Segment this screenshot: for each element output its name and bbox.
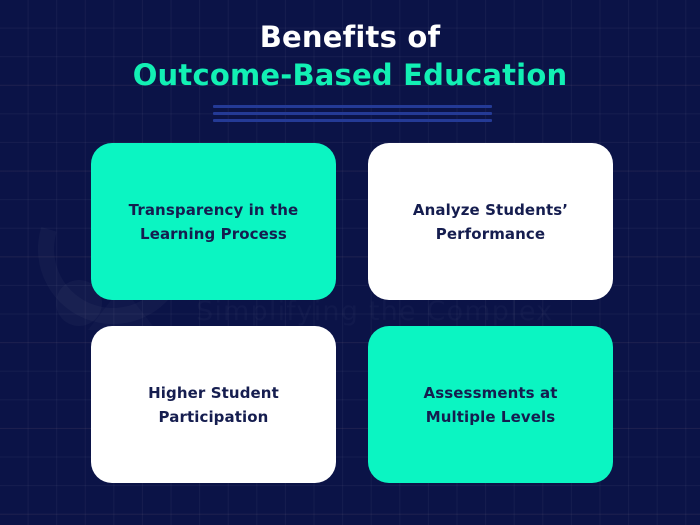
page-title-line-1: Benefits of xyxy=(0,18,700,56)
infographic-slide: izz Simplifying the Complex Benefits of … xyxy=(0,0,700,525)
benefit-card-label: Assessments at Multiple Levels xyxy=(424,381,558,429)
divider-rule-2 xyxy=(213,112,492,115)
benefit-card-transparency[interactable]: Transparency in the Learning Process xyxy=(91,143,336,300)
benefit-card-analyze-performance[interactable]: Analyze Students’ Performance xyxy=(368,143,613,300)
benefit-card-higher-participation[interactable]: Higher Student Participation xyxy=(91,326,336,483)
page-title-line-2: Outcome-Based Education xyxy=(0,56,700,94)
divider-rule-1 xyxy=(213,105,492,108)
benefit-card-label: Higher Student Participation xyxy=(148,381,279,429)
benefit-card-assessments[interactable]: Assessments at Multiple Levels xyxy=(368,326,613,483)
benefit-card-label: Transparency in the Learning Process xyxy=(129,198,299,246)
benefit-card-grid: Transparency in the Learning Process Ana… xyxy=(91,143,613,483)
divider-rule-3 xyxy=(213,119,492,122)
page-title: Benefits of Outcome-Based Education xyxy=(0,18,700,94)
benefit-card-label: Analyze Students’ Performance xyxy=(413,198,568,246)
title-divider xyxy=(213,105,492,122)
